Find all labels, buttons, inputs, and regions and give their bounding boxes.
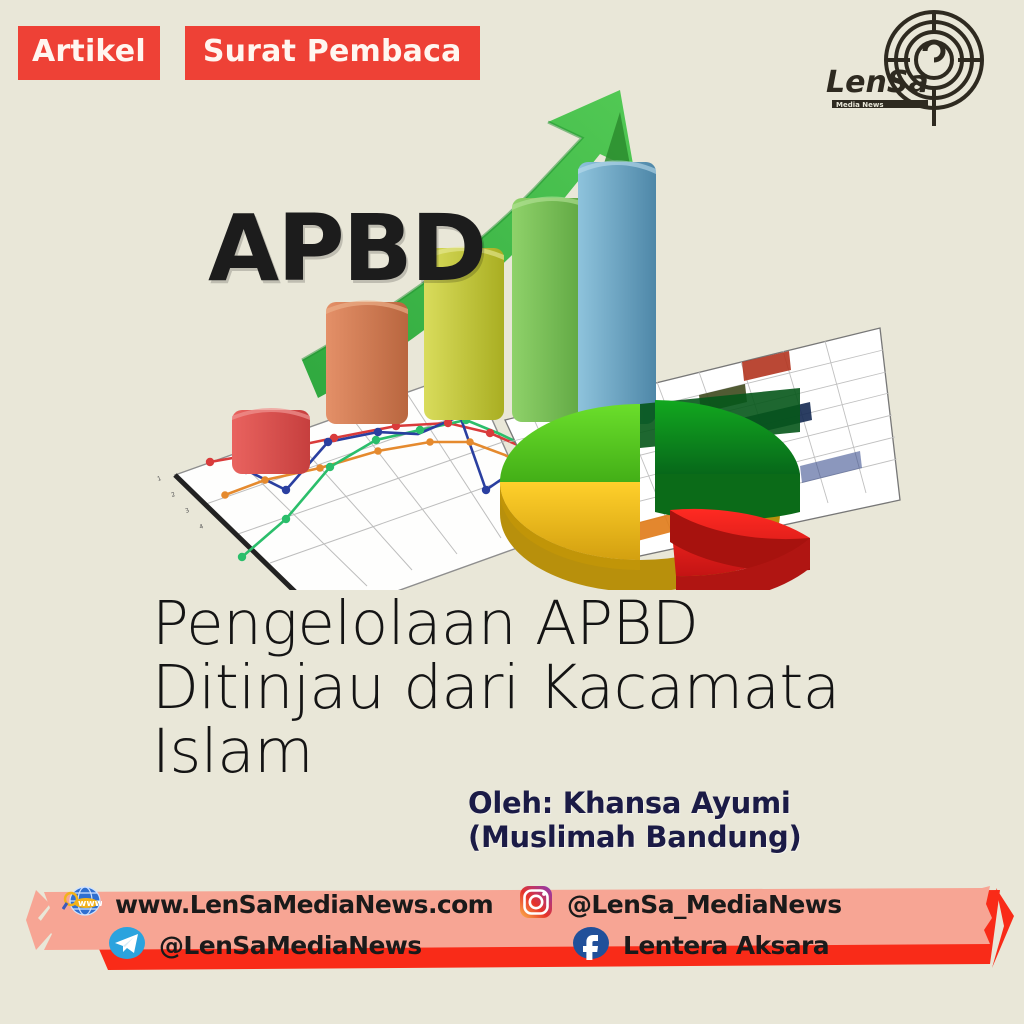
- svg-text:3: 3: [184, 507, 190, 515]
- spiral-lens-icon: LenSa Media News: [822, 8, 1002, 128]
- logo-subtitle: Media News: [836, 101, 884, 109]
- footer-contacts: www www.LenSaMediaNews.com @LenSaMedi: [0, 864, 1024, 1024]
- bar-2: [326, 301, 408, 425]
- footer-ribbon: www www.LenSaMediaNews.com @LenSaMedi: [0, 864, 1024, 1024]
- hero-illustration: 1 2 3 4: [0, 70, 1024, 590]
- page-title: Pengelolaan APBD Ditinjau dari Kacamata …: [152, 592, 942, 784]
- author-byline: Oleh: Khansa Ayumi (Muslimah Bandung): [468, 786, 801, 854]
- byline-affiliation: (Muslimah Bandung): [468, 820, 801, 854]
- svg-text:2: 2: [170, 491, 176, 499]
- footer-facebook-label: Lentera Aksara: [623, 931, 829, 960]
- lensa-logo[interactable]: LenSa Media News: [822, 8, 1002, 128]
- facebook-icon: [572, 926, 610, 964]
- title-line-2: Ditinjau dari Kacamata: [152, 656, 942, 720]
- footer-website[interactable]: www www.LenSaMediaNews.com: [62, 885, 493, 923]
- badge-artikel[interactable]: Artikel: [18, 26, 160, 80]
- title-line-1: Pengelolaan APBD: [152, 592, 942, 656]
- logo-wordmark: LenSa: [826, 65, 929, 100]
- footer-instagram[interactable]: @LenSa_MediaNews: [518, 884, 841, 924]
- footer-facebook[interactable]: Lentera Aksara: [572, 926, 829, 964]
- svg-text:www: www: [78, 899, 102, 909]
- badge-surat-pembaca[interactable]: Surat Pembaca: [185, 26, 480, 80]
- telegram-icon: [108, 926, 146, 964]
- svg-text:1: 1: [156, 475, 162, 483]
- footer-website-label: www.LenSaMediaNews.com: [115, 890, 493, 919]
- hero-graphic: 1 2 3 4: [0, 70, 1024, 590]
- footer-instagram-label: @LenSa_MediaNews: [567, 890, 841, 919]
- title-line-3: Islam: [152, 720, 942, 784]
- svg-text:4: 4: [198, 523, 204, 531]
- apbd-headline: APBD: [208, 195, 485, 302]
- poster-canvas: Artikel Surat Pembaca LenSa Media News: [0, 0, 1024, 1024]
- byline-author: Oleh: Khansa Ayumi: [468, 786, 801, 820]
- globe-www-icon: www: [62, 885, 102, 923]
- bar-5: [578, 161, 656, 425]
- instagram-icon: [518, 884, 554, 924]
- footer-telegram[interactable]: @LenSaMediaNews: [108, 926, 422, 964]
- footer-telegram-label: @LenSaMediaNews: [159, 931, 422, 960]
- category-badges: Artikel Surat Pembaca: [18, 26, 480, 80]
- bar-1: [232, 408, 310, 474]
